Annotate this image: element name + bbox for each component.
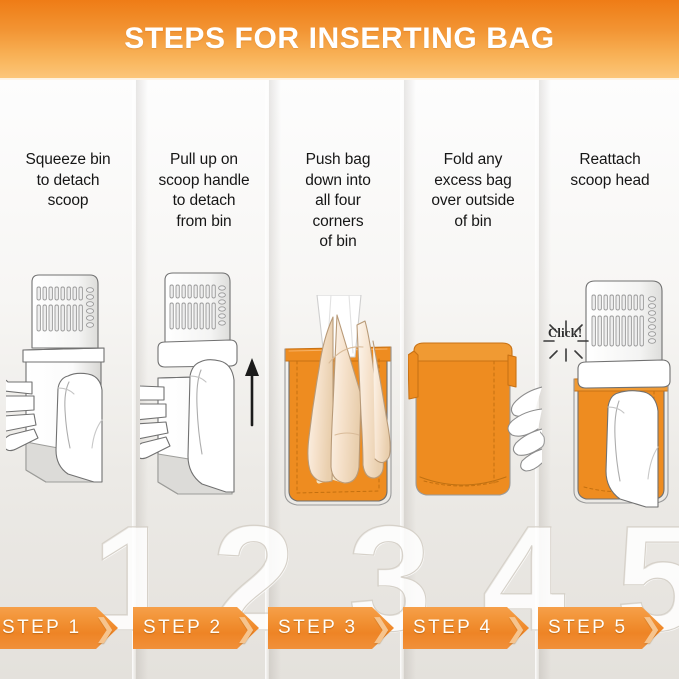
illustration-step-2 — [140, 270, 268, 530]
ribbon-label-2: STEP 2 — [143, 607, 223, 649]
header-banner: STEPS FOR INSERTING BAG — [0, 0, 679, 78]
step-caption-1: Squeeze binto detachscoop — [4, 150, 132, 212]
ribbon-label-3: STEP 3 — [278, 607, 358, 649]
step-ribbon-4[interactable]: STEP 4 ❯ — [403, 607, 533, 649]
illustration-step-1 — [6, 270, 134, 530]
infographic-root: STEPS FOR INSERTING BAG 1 2 3 4 5 Squeez… — [0, 0, 679, 679]
chevron-right-icon-4: ❯ — [502, 607, 530, 649]
step-ribbon-3[interactable]: STEP 3 ❯ — [268, 607, 398, 649]
ribbon-label-1: STEP 1 — [2, 607, 82, 649]
steps-panel-strip: 1 2 3 4 5 Squeeze binto detachscoop Pull… — [0, 80, 679, 679]
chevron-right-icon-5: ❯ — [637, 607, 665, 649]
step-ribbon-5[interactable]: STEP 5 ❯ — [538, 607, 668, 649]
chevron-right-icon-1: ❯ — [91, 607, 119, 649]
step-caption-4: Fold anyexcess bagover outsideof bin — [408, 150, 538, 232]
page-title: STEPS FOR INSERTING BAG — [124, 24, 555, 54]
ribbon-label-5: STEP 5 — [548, 607, 628, 649]
illustration-step-3 — [275, 295, 403, 530]
ribbon-label-4: STEP 4 — [413, 607, 493, 649]
step-caption-2: Pull up onscoop handleto detachfrom bin — [140, 150, 268, 232]
step-caption-5: Reattachscoop head — [544, 150, 676, 191]
click-annotation: Click! — [548, 326, 582, 341]
illustration-step-5 — [540, 275, 679, 530]
step-caption-3: Push bagdown intoall fourcornersof bin — [274, 150, 402, 253]
step-ribbon-2[interactable]: STEP 2 ❯ — [133, 607, 263, 649]
illustration-step-4 — [408, 325, 542, 530]
chevron-right-icon-2: ❯ — [232, 607, 260, 649]
chevron-right-icon-3: ❯ — [367, 607, 395, 649]
step-ribbon-1[interactable]: STEP 1 ❯ — [0, 607, 122, 649]
